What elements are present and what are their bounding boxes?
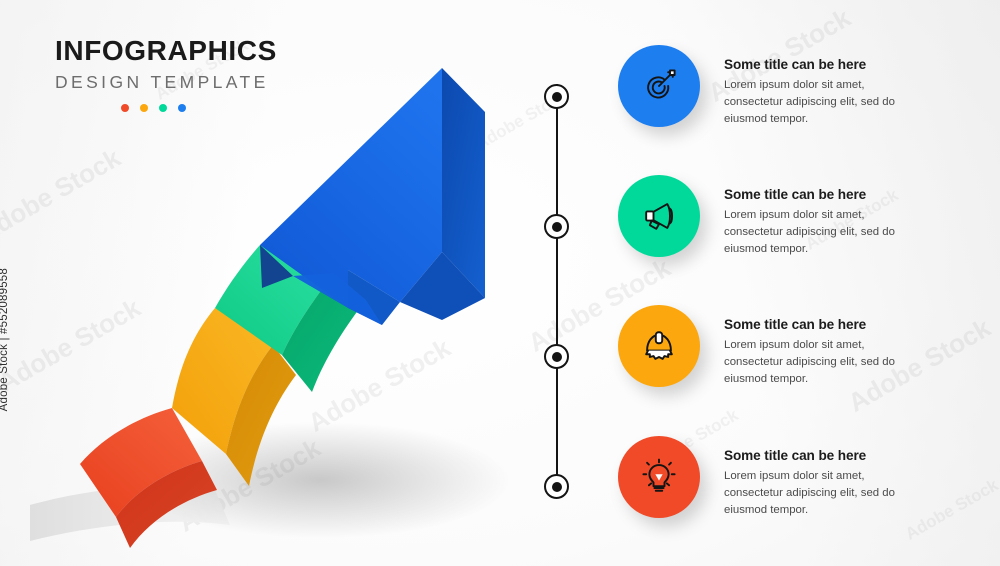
info-item-3[interactable]: Some title can be here Lorem ipsum dolor… <box>618 305 906 388</box>
item-title: Some title can be here <box>724 317 906 332</box>
timeline-axis <box>544 70 570 500</box>
icon-circle-3[interactable] <box>618 305 700 387</box>
adobe-stock-watermark: Adobe Stock | #552089558 <box>0 268 10 411</box>
item-title: Some title can be here <box>724 448 906 463</box>
timeline-rail <box>556 84 558 484</box>
target-dart-icon <box>637 64 681 108</box>
info-text-2: Some title can be here Lorem ipsum dolor… <box>724 175 906 258</box>
icon-circle-2[interactable] <box>618 175 700 257</box>
timeline-node-3[interactable] <box>544 344 569 369</box>
info-text-3: Some title can be here Lorem ipsum dolor… <box>724 305 906 388</box>
item-title: Some title can be here <box>724 187 906 202</box>
info-item-1[interactable]: Some title can be here Lorem ipsum dolor… <box>618 45 906 128</box>
timeline-node-1[interactable] <box>544 84 569 109</box>
curved-arrow-graphic <box>30 20 510 550</box>
infographic-canvas: Adobe Stock Adobe Stock Adobe Stock Adob… <box>0 0 1000 566</box>
lightbulb-icon <box>637 455 681 499</box>
item-body: Lorem ipsum dolor sit amet, consectetur … <box>724 207 906 258</box>
item-title: Some title can be here <box>724 57 906 72</box>
megaphone-icon <box>637 194 681 238</box>
watermark-tile: Adobe Stock <box>902 475 1000 544</box>
info-item-2[interactable]: Some title can be here Lorem ipsum dolor… <box>618 175 906 258</box>
icon-circle-4[interactable] <box>618 436 700 518</box>
info-text-1: Some title can be here Lorem ipsum dolor… <box>724 45 906 128</box>
info-item-4[interactable]: Some title can be here Lorem ipsum dolor… <box>618 436 906 519</box>
item-body: Lorem ipsum dolor sit amet, consectetur … <box>724 337 906 388</box>
timeline-node-4[interactable] <box>544 474 569 499</box>
item-body: Lorem ipsum dolor sit amet, consectetur … <box>724 468 906 519</box>
info-text-4: Some title can be here Lorem ipsum dolor… <box>724 436 906 519</box>
item-body: Lorem ipsum dolor sit amet, consectetur … <box>724 77 906 128</box>
hardhat-gear-icon <box>637 324 681 368</box>
icon-circle-1[interactable] <box>618 45 700 127</box>
timeline-node-2[interactable] <box>544 214 569 239</box>
